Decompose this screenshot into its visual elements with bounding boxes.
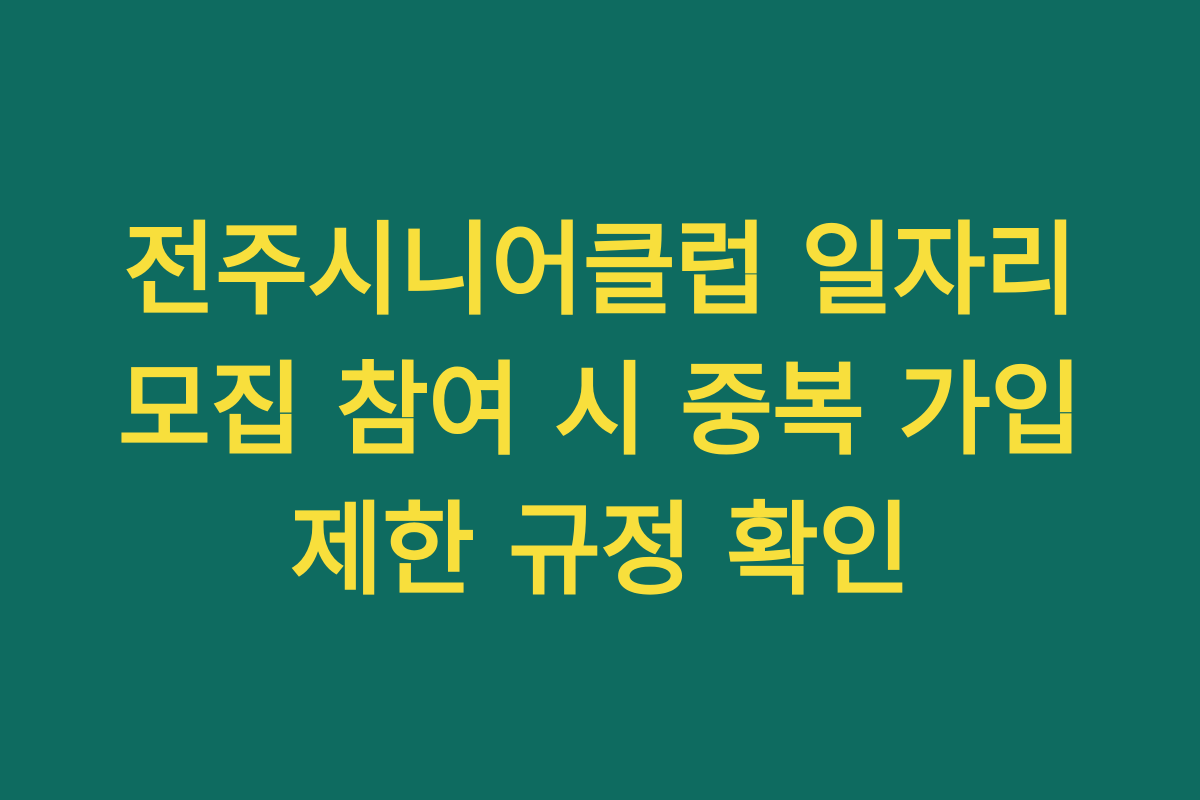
text-banner: 전주시니어클럽 일자리 모집 참여 시 중복 가입 제한 규정 확인 [0, 0, 1200, 800]
headline-line-2: 모집 참여 시 중복 가입 [50, 340, 1150, 480]
headline-line-1: 전주시니어클럽 일자리 [50, 200, 1150, 340]
headline-line-3: 제한 규정 확인 [50, 480, 1150, 620]
headline: 전주시니어클럽 일자리 모집 참여 시 중복 가입 제한 규정 확인 [50, 200, 1150, 620]
